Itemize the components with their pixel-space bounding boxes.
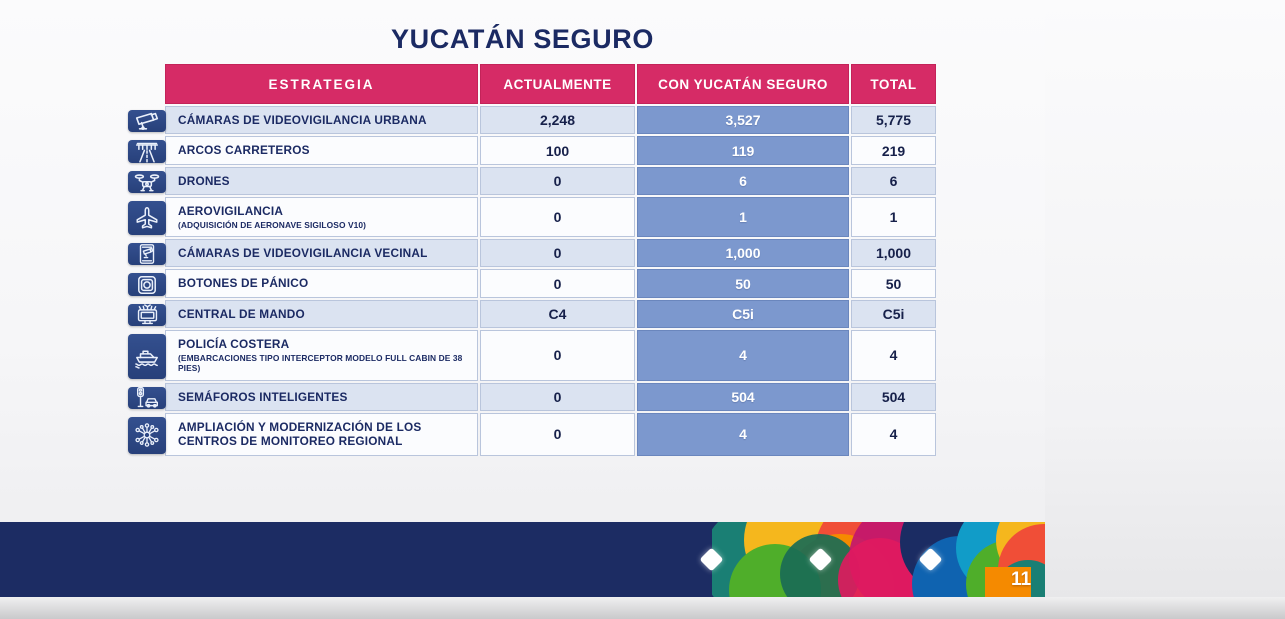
total-cell: C5i [851, 300, 936, 328]
patrol-boat-icon [128, 334, 166, 378]
table-row: AEROVIGILANCIA(ADQUISICIÓN DE AERONAVE S… [165, 197, 936, 237]
strategy-cell: CÁMARAS DE VIDEOVIGILANCIA VECINAL [165, 239, 478, 267]
strategy-cell: POLICÍA COSTERA(EMBARCACIONES TIPO INTER… [165, 330, 478, 380]
column-header-estrategia: ESTRATEGIA [165, 64, 478, 104]
airplane-icon [128, 201, 166, 235]
strategy-label: SEMÁFOROS INTELIGENTES [178, 390, 348, 404]
actualmente-cell: 0 [480, 330, 635, 380]
con-yucatan-seguro-cell: C5i [637, 300, 849, 328]
strategy-table-container: ESTRATEGIA ACTUALMENTE CON YUCATÁN SEGUR… [163, 62, 936, 458]
strategy-sublabel: (EMBARCACIONES TIPO INTERCEPTOR MODELO F… [178, 353, 467, 374]
con-yucatan-seguro-cell: 4 [637, 330, 849, 380]
actualmente-cell: C4 [480, 300, 635, 328]
traffic-light-car-icon [128, 387, 166, 409]
con-yucatan-seguro-cell: 50 [637, 269, 849, 297]
table-header-row: ESTRATEGIA ACTUALMENTE CON YUCATÁN SEGUR… [165, 64, 936, 104]
table-row: BOTONES DE PÁNICO05050 [165, 269, 936, 297]
strategy-label: ARCOS CARRETEROS [178, 143, 310, 157]
drone-icon [128, 171, 166, 193]
strategy-cell: CENTRAL DE MANDO [165, 300, 478, 328]
strategy-cell: CÁMARAS DE VIDEOVIGILANCIA URBANA [165, 106, 478, 134]
panic-button-icon [128, 273, 166, 295]
strategy-cell: AMPLIACIÓN Y MODERNIZACIÓN DE LOS CENTRO… [165, 413, 478, 456]
strategy-sublabel: (ADQUISICIÓN DE AERONAVE SIGILOSO V10) [178, 220, 467, 231]
table-header: ESTRATEGIA ACTUALMENTE CON YUCATÁN SEGUR… [165, 64, 936, 104]
table-row: POLICÍA COSTERA(EMBARCACIONES TIPO INTER… [165, 330, 936, 380]
column-header-actualmente: ACTUALMENTE [480, 64, 635, 104]
actualmente-cell: 0 [480, 383, 635, 411]
strategy-cell: DRONES [165, 167, 478, 195]
page-number: 11 [1001, 563, 1041, 597]
total-cell: 50 [851, 269, 936, 297]
con-yucatan-seguro-cell: 1 [637, 197, 849, 237]
actualmente-cell: 0 [480, 167, 635, 195]
con-yucatan-seguro-cell: 4 [637, 413, 849, 456]
strategy-label: AEROVIGILANCIA [178, 204, 283, 218]
strategy-cell: BOTONES DE PÁNICO [165, 269, 478, 297]
strategy-label: CÁMARAS DE VIDEOVIGILANCIA URBANA [178, 113, 427, 127]
actualmente-cell: 0 [480, 197, 635, 237]
security-camera-icon [128, 110, 166, 132]
total-cell: 6 [851, 167, 936, 195]
con-yucatan-seguro-cell: 1,000 [637, 239, 849, 267]
con-yucatan-seguro-cell: 3,527 [637, 106, 849, 134]
strategy-label: CÁMARAS DE VIDEOVIGILANCIA VECINAL [178, 246, 428, 260]
strategy-table: ESTRATEGIA ACTUALMENTE CON YUCATÁN SEGUR… [163, 62, 938, 458]
slide: YUCATÁN SEGURO ESTRATEGIA ACTUALMENTE CO… [0, 0, 1285, 619]
total-cell: 4 [851, 330, 936, 380]
table-row: SEMÁFOROS INTELIGENTES0504504 [165, 383, 936, 411]
strategy-cell: ARCOS CARRETEROS [165, 136, 478, 164]
total-cell: 1,000 [851, 239, 936, 267]
total-cell: 504 [851, 383, 936, 411]
highway-arch-icon [128, 140, 166, 162]
strategy-label: DRONES [178, 174, 230, 188]
navy-band-block [0, 522, 712, 597]
actualmente-cell: 100 [480, 136, 635, 164]
table-row: AMPLIACIÓN Y MODERNIZACIÓN DE LOS CENTRO… [165, 413, 936, 456]
actualmente-cell: 2,248 [480, 106, 635, 134]
slide-right-margin [1045, 0, 1285, 597]
column-header-con-yucatan-seguro: CON YUCATÁN SEGURO [637, 64, 849, 104]
table-row: CÁMARAS DE VIDEOVIGILANCIA VECINAL01,000… [165, 239, 936, 267]
strategy-label: POLICÍA COSTERA [178, 337, 289, 351]
con-yucatan-seguro-cell: 119 [637, 136, 849, 164]
total-cell: 5,775 [851, 106, 936, 134]
actualmente-cell: 0 [480, 239, 635, 267]
column-header-total: TOTAL [851, 64, 936, 104]
strategy-label: BOTONES DE PÁNICO [178, 276, 308, 290]
strategy-label: AMPLIACIÓN Y MODERNIZACIÓN DE LOS CENTRO… [178, 420, 421, 448]
actualmente-cell: 0 [480, 413, 635, 456]
command-center-monitor-icon [128, 304, 166, 326]
strategy-label: CENTRAL DE MANDO [178, 307, 305, 321]
table-row: ARCOS CARRETEROS100119219 [165, 136, 936, 164]
table-row: CÁMARAS DE VIDEOVIGILANCIA URBANA2,2483,… [165, 106, 936, 134]
viewer-bottom-strip [0, 597, 1285, 619]
table-row: DRONES066 [165, 167, 936, 195]
con-yucatan-seguro-cell: 504 [637, 383, 849, 411]
total-cell: 219 [851, 136, 936, 164]
table-body: CÁMARAS DE VIDEOVIGILANCIA URBANA2,2483,… [165, 106, 936, 456]
table-row: CENTRAL DE MANDOC4C5iC5i [165, 300, 936, 328]
footer-decorative-band: 11 [0, 522, 1045, 597]
network-hub-icon [128, 417, 166, 454]
strategy-cell: SEMÁFOROS INTELIGENTES [165, 383, 478, 411]
total-cell: 1 [851, 197, 936, 237]
strategy-cell: AEROVIGILANCIA(ADQUISICIÓN DE AERONAVE S… [165, 197, 478, 237]
actualmente-cell: 0 [480, 269, 635, 297]
total-cell: 4 [851, 413, 936, 456]
page-title: YUCATÁN SEGURO [0, 24, 1045, 55]
con-yucatan-seguro-cell: 6 [637, 167, 849, 195]
home-camera-icon [128, 243, 166, 265]
